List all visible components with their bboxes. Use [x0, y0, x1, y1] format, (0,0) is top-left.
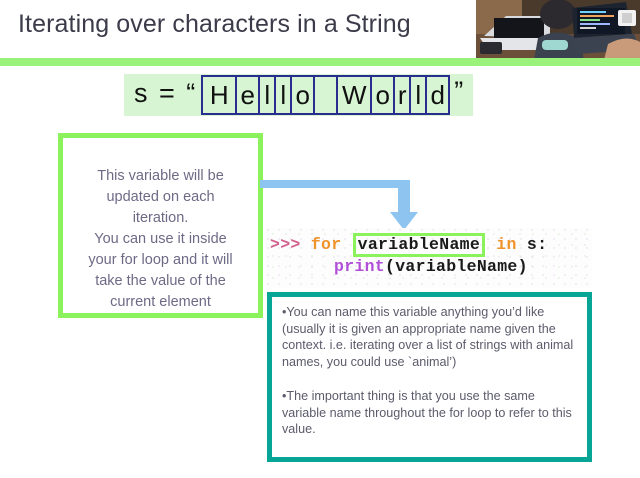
code-line-for: >>> for variableName in s:: [270, 233, 547, 257]
callout-line: This variable will be: [63, 166, 258, 187]
note-bullet-1: •You can name this variable anything you…: [272, 304, 587, 370]
code-snippet: >>> for variableName in s: print(variabl…: [266, 228, 592, 288]
close-paren: ): [518, 257, 528, 276]
char-cell: l: [259, 75, 275, 115]
iterable-name: s: [527, 235, 537, 254]
char-cell: W: [337, 75, 371, 115]
char-cell: d: [426, 75, 450, 115]
note-bullet-2: •The important thing is that you use the…: [272, 388, 587, 438]
variable-explanation-callout: This variable will be updated on each it…: [58, 133, 263, 318]
string-assignment-label: s = “: [126, 78, 201, 112]
char-cell: o: [291, 75, 314, 115]
callout-line: take the value of the: [63, 271, 258, 292]
char-cell: o: [371, 75, 394, 115]
page-title: Iterating over characters in a String: [18, 10, 411, 39]
print-argument: variableName: [395, 257, 517, 276]
char-cell: l: [410, 75, 426, 115]
elbow-arrow-down-icon: [258, 178, 428, 234]
char-cell: H: [201, 75, 236, 115]
green-divider-bar: [0, 58, 640, 66]
callout-line: You can use it inside: [63, 229, 258, 250]
character-cells: H e l l o W o r l d: [201, 75, 450, 115]
code-line-print: print(variableName): [334, 257, 528, 276]
keyword-in: in: [496, 235, 516, 254]
string-closing-quote: ”: [450, 76, 471, 115]
char-cell: l: [275, 75, 291, 115]
string-diagram: s = “ H e l l o W o r l d ”: [124, 74, 473, 116]
naming-notes-box: •You can name this variable anything you…: [267, 292, 592, 462]
char-cell: r: [394, 75, 410, 115]
callout-line: your for loop and it will: [63, 250, 258, 271]
colon: :: [537, 235, 547, 254]
callout-line: updated on each: [63, 187, 258, 208]
divider-underline: [0, 66, 640, 68]
char-cell-space: [314, 75, 337, 115]
keyword-for: for: [311, 235, 342, 254]
open-paren: (: [385, 257, 395, 276]
char-cell: e: [236, 75, 259, 115]
laptops-photo-illustration: [476, 0, 640, 60]
callout-line: iteration.: [63, 208, 258, 229]
python-prompt: >>>: [270, 235, 301, 254]
variable-explanation-text: This variable will be updated on each it…: [63, 166, 258, 313]
highlighted-variable-name: variableName: [353, 233, 485, 257]
header-photo: [476, 0, 640, 60]
callout-line: current element: [63, 292, 258, 313]
function-print: print: [334, 257, 385, 276]
slide-canvas: Iterating over characters in a String: [0, 0, 640, 478]
